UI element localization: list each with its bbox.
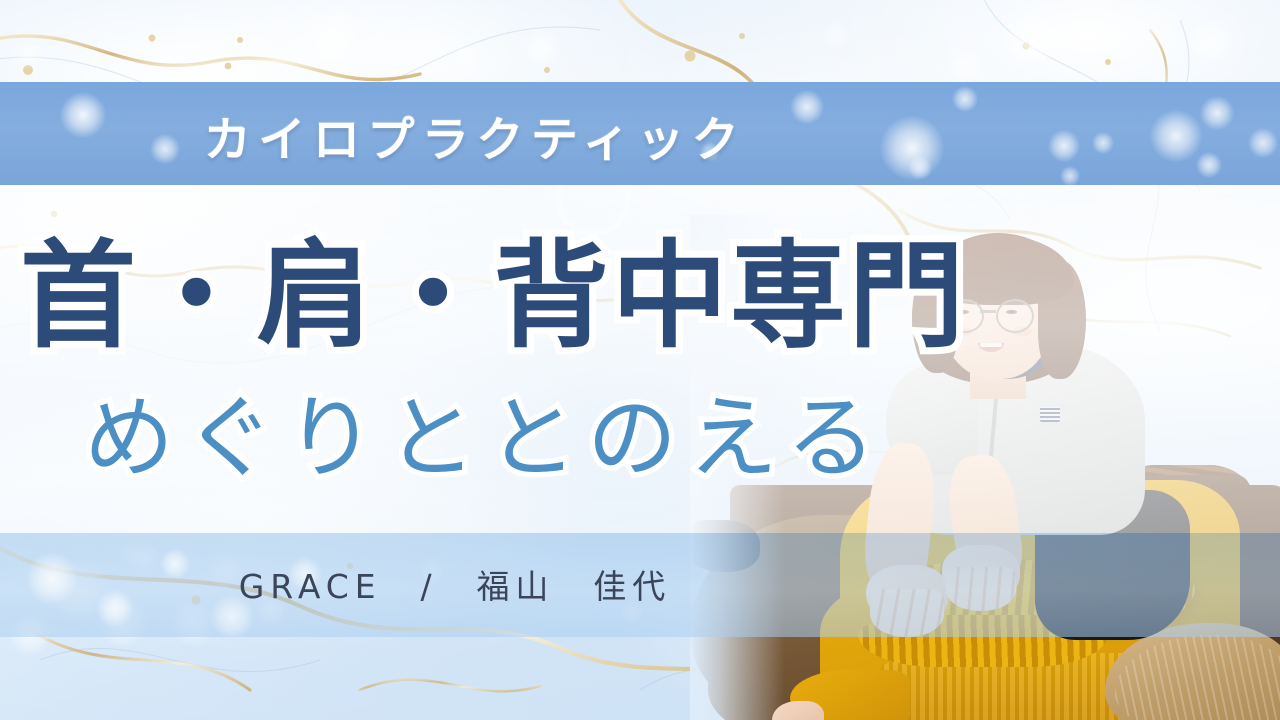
banner-canvas: カイロプラクティック 首・肩・背中専門 めぐりととのえる GRACE / 福山 … bbox=[0, 0, 1280, 720]
category-label: カイロプラクティック bbox=[0, 92, 950, 178]
headline-secondary: めぐりととのえる bbox=[84, 372, 984, 488]
credit-line: GRACE / 福山 佳代 bbox=[0, 548, 910, 620]
headline-primary: 首・肩・背中専門 bbox=[20, 216, 980, 356]
